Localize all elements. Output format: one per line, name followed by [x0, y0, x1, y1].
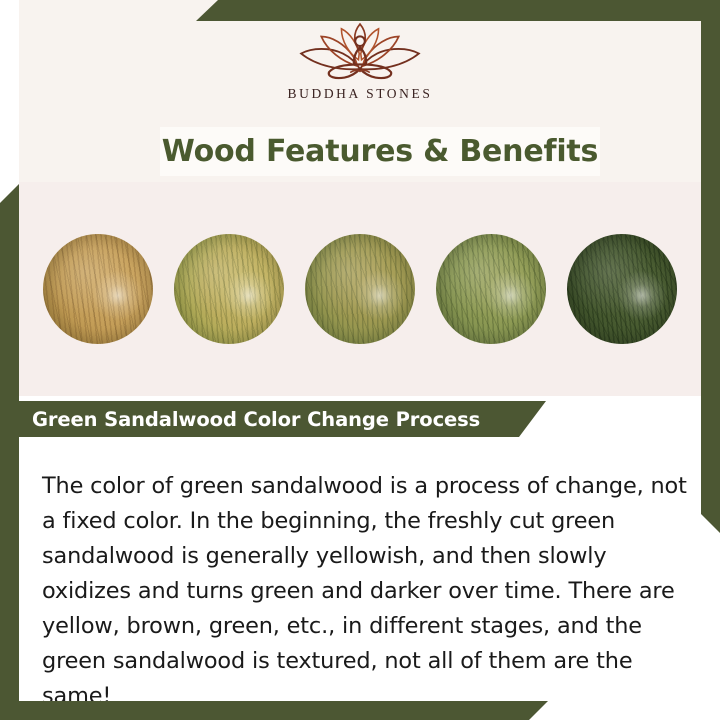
bead-shading [436, 234, 546, 344]
header-panel: BUDDHA STONES Wood Features & Benefits [19, 0, 701, 182]
body-paragraph: The color of green sandalwood is a proce… [42, 469, 687, 714]
page-title-band: Wood Features & Benefits [160, 127, 600, 176]
body-panel: The color of green sandalwood is a proce… [19, 437, 701, 701]
bead-stage-4 [436, 234, 546, 344]
lotus-meditation-icon [280, 21, 440, 83]
bead-shading [305, 234, 415, 344]
section-subtitle-banner: Green Sandalwood Color Change Process [19, 401, 546, 437]
bead-shading [174, 234, 284, 344]
poster-canvas: BUDDHA STONES Wood Features & Benefits [0, 0, 720, 720]
bead-row [19, 182, 701, 396]
bead-shading [567, 234, 677, 344]
bead-stage-3 [305, 234, 415, 344]
frame-accent-top [196, 0, 720, 21]
frame-accent-left [0, 184, 19, 720]
frame-accent-bottom [0, 701, 548, 720]
brand-wordmark: BUDDHA STONES [288, 86, 433, 102]
bead-gallery-panel [19, 182, 701, 396]
bead-stage-5 [567, 234, 677, 344]
section-subtitle: Green Sandalwood Color Change Process [19, 408, 480, 431]
page-title: Wood Features & Benefits [162, 134, 598, 169]
frame-accent-right [701, 0, 720, 533]
bead-stage-1 [43, 234, 153, 344]
bead-shading [43, 234, 153, 344]
bead-stage-2 [174, 234, 284, 344]
